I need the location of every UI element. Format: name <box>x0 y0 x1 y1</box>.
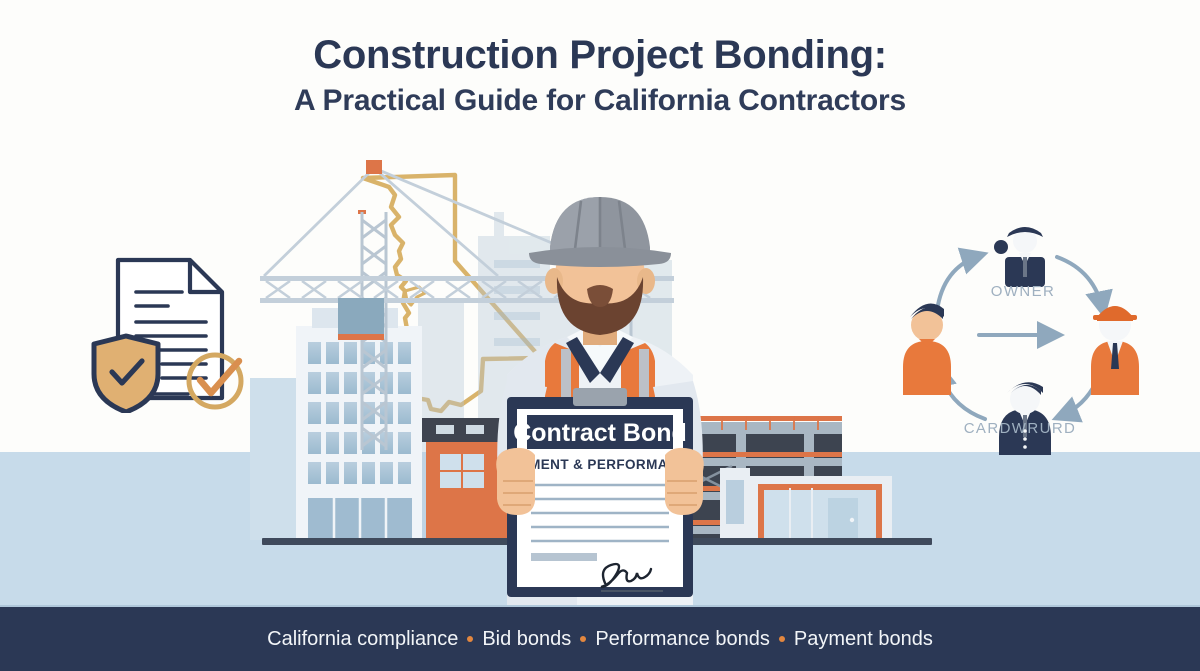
footer-item: Bid bonds <box>482 628 571 651</box>
contractor-person-icon <box>999 382 1051 455</box>
footer-keyword-list: California complianceBid bondsPerformanc… <box>0 607 1200 671</box>
footer-separator-dot <box>580 636 586 642</box>
clipboard-banner-text: Contract Bond <box>513 419 687 447</box>
poster-canvas: Contract Bond PAYMENT & PERFORMANCE <box>0 0 1200 671</box>
worker-person-icon <box>903 304 951 395</box>
bonding-parties-diagram: OWNER CARDWRURD <box>895 215 1150 455</box>
page-title: Construction Project Bonding: <box>0 32 1200 78</box>
diagram-label-contractor: CARDWRURD <box>950 420 1090 437</box>
hard-hat <box>529 197 671 267</box>
footer-item: Performance bonds <box>595 628 770 651</box>
office-building <box>296 308 422 540</box>
title-block: Construction Project Bonding: A Practica… <box>0 32 1200 119</box>
document-shield-icon-group <box>78 248 258 413</box>
footer-separator-dot <box>779 636 785 642</box>
storefront <box>720 468 892 540</box>
owner-person-icon <box>994 227 1045 287</box>
footer-item: Payment bonds <box>794 628 933 651</box>
shield-check-icon <box>94 336 158 412</box>
footer-separator-dot <box>467 636 473 642</box>
page-subtitle: A Practical Guide for California Contrac… <box>0 84 1200 119</box>
footer-item: California compliance <box>267 628 458 651</box>
diagram-label-owner: OWNER <box>953 283 1093 300</box>
engineer-person-icon <box>1091 306 1139 395</box>
contractor-figure: Contract Bond PAYMENT & PERFORMANCE <box>455 185 745 605</box>
